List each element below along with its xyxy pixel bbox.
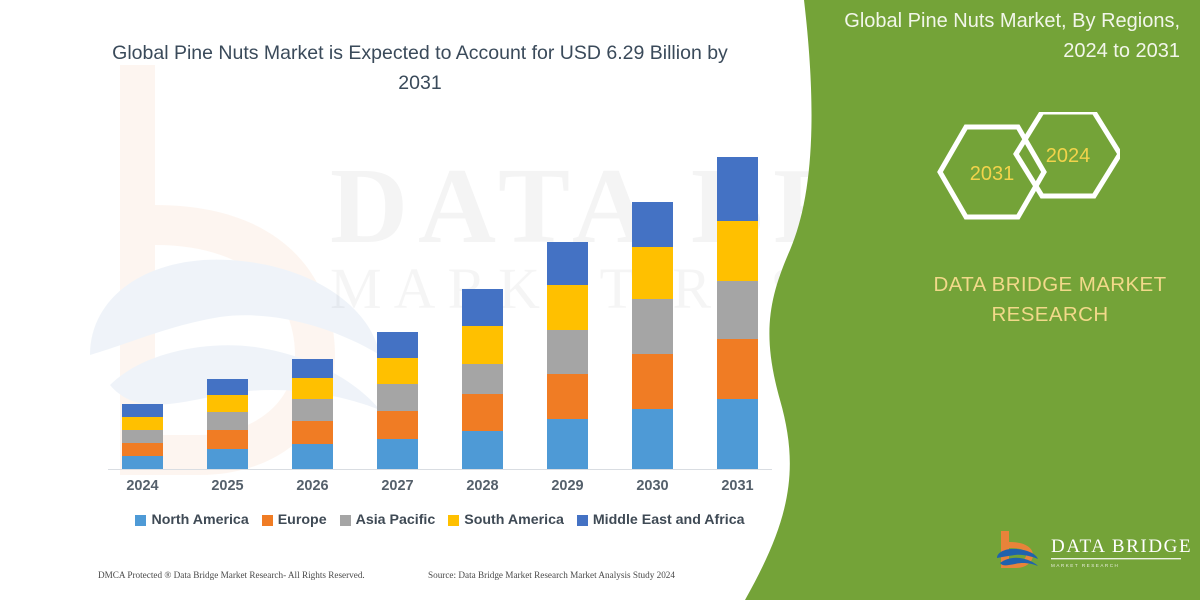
bar-2025[interactable] <box>207 379 248 469</box>
bar-segment[interactable] <box>122 430 163 443</box>
x-axis-line <box>108 469 772 470</box>
bar-segment[interactable] <box>462 364 503 394</box>
x-axis-label: 2025 <box>207 478 248 494</box>
bar-segment[interactable] <box>462 326 503 364</box>
bar-2031[interactable] <box>717 157 758 469</box>
chart-legend: North AmericaEuropeAsia PacificSouth Ame… <box>100 512 780 528</box>
legend-swatch-icon <box>340 515 351 526</box>
hexagon-badges: 2031 2024 <box>920 112 1120 230</box>
bar-segment[interactable] <box>292 444 333 469</box>
bar-segment[interactable] <box>547 242 588 285</box>
legend-item[interactable]: South America <box>448 512 564 528</box>
bar-segment[interactable] <box>207 395 248 412</box>
bar-segment[interactable] <box>462 394 503 431</box>
page-title: Global Pine Nuts Market is Expected to A… <box>110 38 730 98</box>
footer-source: Source: Data Bridge Market Research Mark… <box>428 570 675 580</box>
bar-segment[interactable] <box>292 421 333 444</box>
bar-segment[interactable] <box>377 439 418 469</box>
bar-segment[interactable] <box>717 399 758 469</box>
legend-swatch-icon <box>262 515 273 526</box>
legend-swatch-icon <box>448 515 459 526</box>
bar-segment[interactable] <box>122 404 163 417</box>
svg-text:2031: 2031 <box>970 163 1015 185</box>
legend-item[interactable]: Asia Pacific <box>340 512 436 528</box>
bar-segment[interactable] <box>547 330 588 374</box>
x-axis-label: 2029 <box>547 478 588 494</box>
bar-2027[interactable] <box>377 332 418 469</box>
bar-segment[interactable] <box>207 449 248 469</box>
x-axis-label: 2031 <box>717 478 758 494</box>
svg-text:MARKET RESEARCH: MARKET RESEARCH <box>1051 563 1119 568</box>
bar-segment[interactable] <box>717 281 758 339</box>
legend-label: Asia Pacific <box>356 512 436 528</box>
x-axis-label: 2026 <box>292 478 333 494</box>
bar-2026[interactable] <box>292 359 333 469</box>
bar-segment[interactable] <box>377 358 418 384</box>
bar-2024[interactable] <box>122 404 163 469</box>
bar-segment[interactable] <box>292 359 333 378</box>
bar-segment[interactable] <box>377 332 418 358</box>
svg-text:2024: 2024 <box>1046 145 1091 167</box>
bar-segment[interactable] <box>292 399 333 421</box>
legend-label: Middle East and Africa <box>593 512 745 528</box>
bar-segment[interactable] <box>122 443 163 456</box>
bar-segment[interactable] <box>717 221 758 281</box>
legend-label: Europe <box>278 512 327 528</box>
bar-segment[interactable] <box>292 378 333 399</box>
footer-copyright: DMCA Protected ® Data Bridge Market Rese… <box>98 570 365 580</box>
bar-2030[interactable] <box>632 202 673 469</box>
x-axis-labels: 20242025202620272028202920302031 <box>100 478 780 494</box>
bar-segment[interactable] <box>462 289 503 326</box>
stacked-bar-chart <box>100 140 780 470</box>
legend-item[interactable]: Europe <box>262 512 327 528</box>
bar-segment[interactable] <box>632 202 673 247</box>
legend-swatch-icon <box>135 515 146 526</box>
bar-segment[interactable] <box>122 417 163 430</box>
svg-text:DATA BRIDGE: DATA BRIDGE <box>1051 536 1190 557</box>
bar-segment[interactable] <box>377 384 418 411</box>
x-axis-label: 2027 <box>377 478 418 494</box>
bar-segment[interactable] <box>207 430 248 449</box>
bar-segment[interactable] <box>547 419 588 469</box>
brand-name: DATA BRIDGE MARKET RESEARCH <box>905 270 1195 329</box>
legend-swatch-icon <box>577 515 588 526</box>
bar-segment[interactable] <box>632 409 673 469</box>
logo-mark <box>997 531 1038 568</box>
data-bridge-logo: DATA BRIDGE MARKET RESEARCH <box>995 528 1190 580</box>
bar-2029[interactable] <box>547 242 588 469</box>
panel-title: Global Pine Nuts Market, By Regions, 202… <box>818 6 1180 66</box>
bar-segment[interactable] <box>547 285 588 330</box>
bar-segment[interactable] <box>122 456 163 469</box>
bar-segment[interactable] <box>462 431 503 469</box>
bar-segment[interactable] <box>632 247 673 299</box>
bar-segment[interactable] <box>717 157 758 221</box>
x-axis-label: 2030 <box>632 478 673 494</box>
legend-item[interactable]: Middle East and Africa <box>577 512 745 528</box>
bar-2028[interactable] <box>462 289 503 469</box>
bar-segment[interactable] <box>717 339 758 399</box>
legend-label: North America <box>151 512 248 528</box>
x-axis-label: 2024 <box>122 478 163 494</box>
bar-segment[interactable] <box>377 411 418 439</box>
legend-item[interactable]: North America <box>135 512 248 528</box>
bar-segment[interactable] <box>207 379 248 395</box>
infographic-root: DATA BRIDGE MARKET RESEARCH Global Pine … <box>0 0 1200 600</box>
x-axis-label: 2028 <box>462 478 503 494</box>
legend-label: South America <box>464 512 564 528</box>
bar-group <box>100 140 780 469</box>
bar-segment[interactable] <box>632 354 673 409</box>
bar-segment[interactable] <box>547 374 588 419</box>
bar-segment[interactable] <box>207 412 248 430</box>
bar-segment[interactable] <box>632 299 673 354</box>
